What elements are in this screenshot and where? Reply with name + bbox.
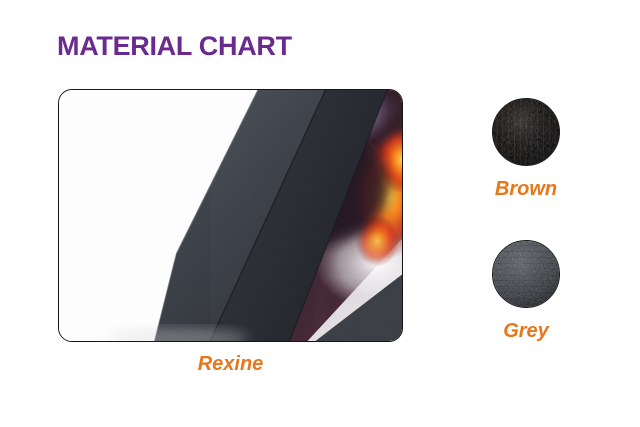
swatch-grey-circle[interactable] bbox=[492, 240, 560, 308]
swatch-brown-label: Brown bbox=[486, 178, 566, 200]
material-chart-page: MATERIAL CHART bbox=[0, 0, 640, 427]
grey-fabric-texture-icon bbox=[493, 241, 559, 307]
swatch-brown-circle[interactable] bbox=[492, 98, 560, 166]
swatch-grey[interactable]: Grey bbox=[492, 240, 566, 342]
swatch-grey-label: Grey bbox=[486, 320, 566, 342]
product-image-panel bbox=[58, 89, 403, 342]
rexine-material-photo bbox=[59, 90, 402, 341]
brown-fabric-texture-icon bbox=[493, 99, 559, 165]
product-caption: Rexine bbox=[58, 352, 403, 376]
page-title: MATERIAL CHART bbox=[57, 30, 292, 62]
swatch-brown[interactable]: Brown bbox=[492, 98, 566, 200]
